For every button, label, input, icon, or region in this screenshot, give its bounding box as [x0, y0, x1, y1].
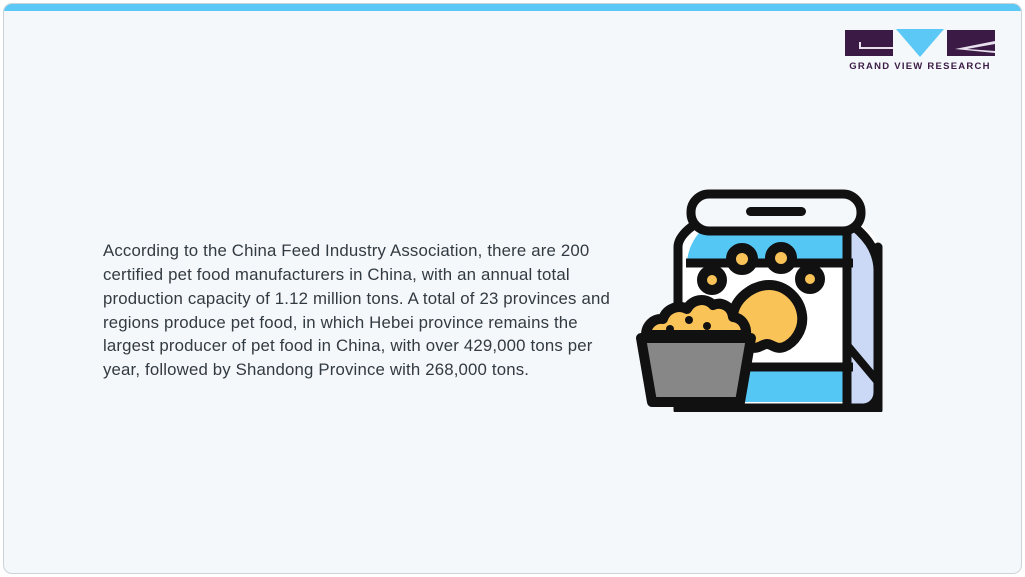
pet-food-bag-and-bowl-icon — [634, 187, 909, 412]
paw-toe-4 — [800, 269, 820, 289]
logo-marks — [845, 29, 995, 57]
logo-g-glyph-icon — [859, 42, 893, 50]
kibble-speck — [703, 322, 711, 330]
pet-food-illustration — [634, 187, 909, 412]
kibble-speck — [685, 316, 693, 324]
logo-r-glyph-icon — [947, 41, 995, 55]
paw-toe-1 — [731, 248, 753, 270]
paw-toe-3 — [702, 270, 722, 290]
brand-wordmark: GRAND VIEW RESEARCH — [845, 61, 995, 72]
bowl-body — [641, 338, 751, 402]
logo-v-triangle-icon — [896, 29, 944, 57]
slide-card: GRAND VIEW RESEARCH According to the Chi… — [3, 3, 1022, 574]
kibble-mound — [646, 300, 746, 335]
paw-toe-2 — [770, 247, 792, 269]
kibble-speck — [666, 325, 674, 333]
brand-logo: GRAND VIEW RESEARCH — [845, 29, 995, 77]
food-bowl-icon — [641, 300, 751, 402]
top-accent-bar — [4, 4, 1021, 11]
bag-seal-grip — [746, 207, 806, 216]
insight-paragraph: According to the China Feed Industry Ass… — [103, 239, 623, 382]
